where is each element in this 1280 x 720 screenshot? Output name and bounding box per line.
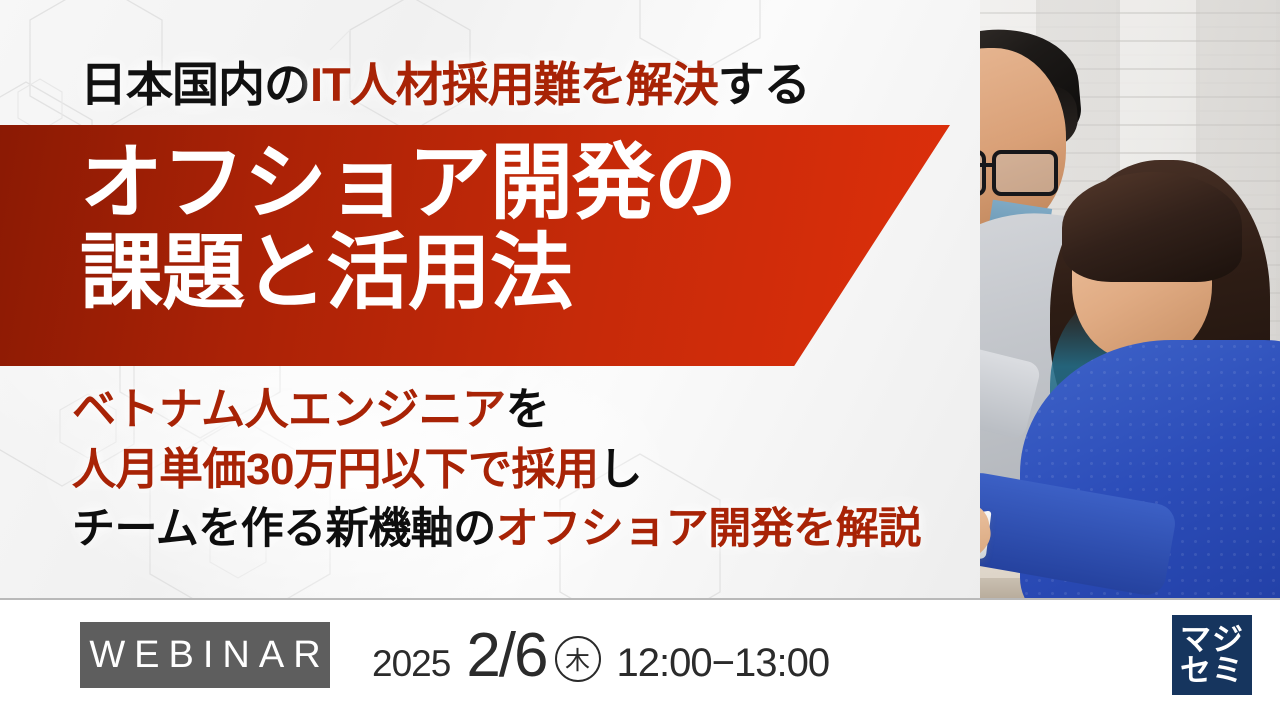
main-title: オフショア開発の 課題と活用法 (80, 138, 900, 319)
event-day-of-week: 木 (555, 636, 601, 682)
woman-hair-top (1062, 172, 1242, 282)
majisemi-logo[interactable]: マジ セミ (1172, 615, 1252, 695)
subhead-block: ベトナム人エンジニアを 人月単価30万円以下で採用し チームを作る新機軸のオフシ… (72, 380, 972, 558)
logo-line-1: マジ (1180, 624, 1244, 655)
subhead-line1-red: ベトナム人エンジニア (72, 385, 506, 434)
event-date-time: 2025 2/6 木 12:00−13:00 (372, 620, 829, 690)
eyebrow-suffix: する (718, 58, 810, 111)
subhead-line1-black: を (506, 385, 550, 434)
subhead-line3-red: オフショア開発を解説 (496, 505, 921, 553)
event-month-day: 2/6 (466, 620, 546, 691)
glasses-lens-right (992, 150, 1058, 196)
subhead-line-2: 人月単価30万円以下で採用し (72, 440, 972, 500)
eyebrow-prefix: 日本国内の (80, 58, 310, 111)
headline-eyebrow: 日本国内のIT人材採用難を解決する (80, 46, 810, 115)
subhead-line3-black: チームを作る新機軸 (72, 505, 453, 553)
webinar-badge: WEBINAR (80, 622, 330, 688)
subhead-line-3: チームを作る新機軸のオフショア開発を解説 (72, 500, 972, 558)
main-title-line2: 課題と活用法 (80, 228, 900, 318)
main-title-line1: オフショア開発の (80, 136, 736, 229)
eyebrow-highlight: IT人材採用難を解決 (310, 58, 718, 111)
logo-line-2: セミ (1180, 655, 1244, 686)
event-time: 12:00−13:00 (617, 641, 830, 686)
subhead-line2-black: し (598, 445, 642, 494)
webinar-banner: 日本国内のIT人材採用難を解決する オフショア開発の 課題と活用法 ベトナム人エ… (0, 0, 1280, 720)
subhead-line2-red: 人月単価30万円以下で採用 (72, 445, 598, 494)
subhead-line-1: ベトナム人エンジニアを (72, 380, 972, 440)
subhead-line3-black2: の (453, 505, 496, 553)
event-year: 2025 (372, 643, 450, 685)
